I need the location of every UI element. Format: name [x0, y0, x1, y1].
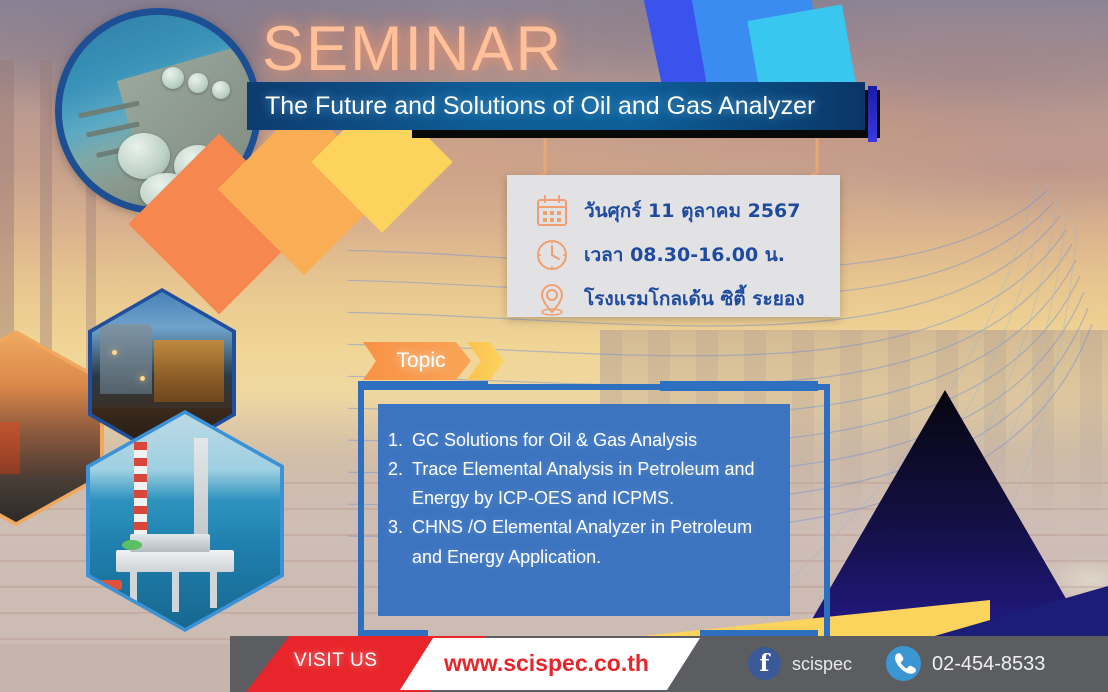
event-time-text: เวลา 08.30-16.00 น. — [584, 240, 785, 270]
helipad — [122, 540, 142, 550]
location-pin-icon — [535, 282, 569, 316]
subtitle-band: The Future and Solutions of Oil and Gas … — [247, 82, 865, 130]
facebook-icon[interactable]: f — [748, 647, 781, 680]
facebook-glyph: f — [748, 647, 781, 680]
facebook-name[interactable]: scispec — [792, 654, 852, 675]
calendar-icon — [535, 194, 569, 228]
topic-tab-right — [660, 381, 818, 391]
website-banner[interactable]: www.scispec.co.th — [400, 638, 700, 690]
list-item: Trace Elemental Analysis in Petroleum an… — [408, 455, 772, 513]
event-venue-text: โรงแรมโกลเด้น ซิตี้ ระยอง — [584, 284, 805, 314]
clock-icon — [535, 238, 569, 272]
rig-platform — [130, 534, 210, 552]
list-item: GC Solutions for Oil & Gas Analysis — [408, 426, 772, 455]
seminar-poster: SEMINAR The Future and Solutions of Oil … — [0, 0, 1108, 692]
topic-banner-label: Topic — [363, 342, 471, 380]
topic-list: GC Solutions for Oil & Gas Analysis Trac… — [378, 404, 790, 572]
phone-handset-glyph — [886, 646, 921, 681]
list-item: CHNS /O Elemental Analyzer in Petroleum … — [408, 513, 772, 571]
storage-tank — [212, 81, 230, 99]
event-time-row: เวลา 08.30-16.00 น. — [507, 233, 840, 277]
topic-banner: Topic — [363, 342, 471, 380]
visit-us-label: VISIT US — [294, 650, 378, 672]
storage-tank — [162, 67, 184, 89]
page-title: SEMINAR — [262, 13, 563, 85]
title-band-edge — [868, 86, 877, 142]
event-info-card: วันศุกร์ 11 ตุลาคม 2567 เวลา 08.30-16.00… — [507, 175, 840, 317]
rig-leg — [172, 570, 179, 612]
storage-tank — [118, 133, 170, 179]
rig-deck — [116, 550, 234, 572]
subtitle-text: The Future and Solutions of Oil and Gas … — [247, 82, 865, 130]
topic-list-box: GC Solutions for Oil & Gas Analysis Trac… — [378, 404, 790, 616]
event-date-row: วันศุกร์ 11 ตุลาคม 2567 — [507, 189, 840, 233]
rig-leg — [210, 570, 217, 608]
event-venue-row: โรงแรมโกลเด้น ซิตี้ ระยอง — [507, 277, 840, 321]
phone-number[interactable]: 02-454-8533 — [932, 653, 1045, 676]
storage-tank — [188, 73, 208, 93]
event-date-text: วันศุกร์ 11 ตุลาคม 2567 — [584, 196, 800, 226]
phone-icon[interactable] — [886, 646, 921, 681]
website-url[interactable]: www.scispec.co.th — [444, 650, 649, 677]
